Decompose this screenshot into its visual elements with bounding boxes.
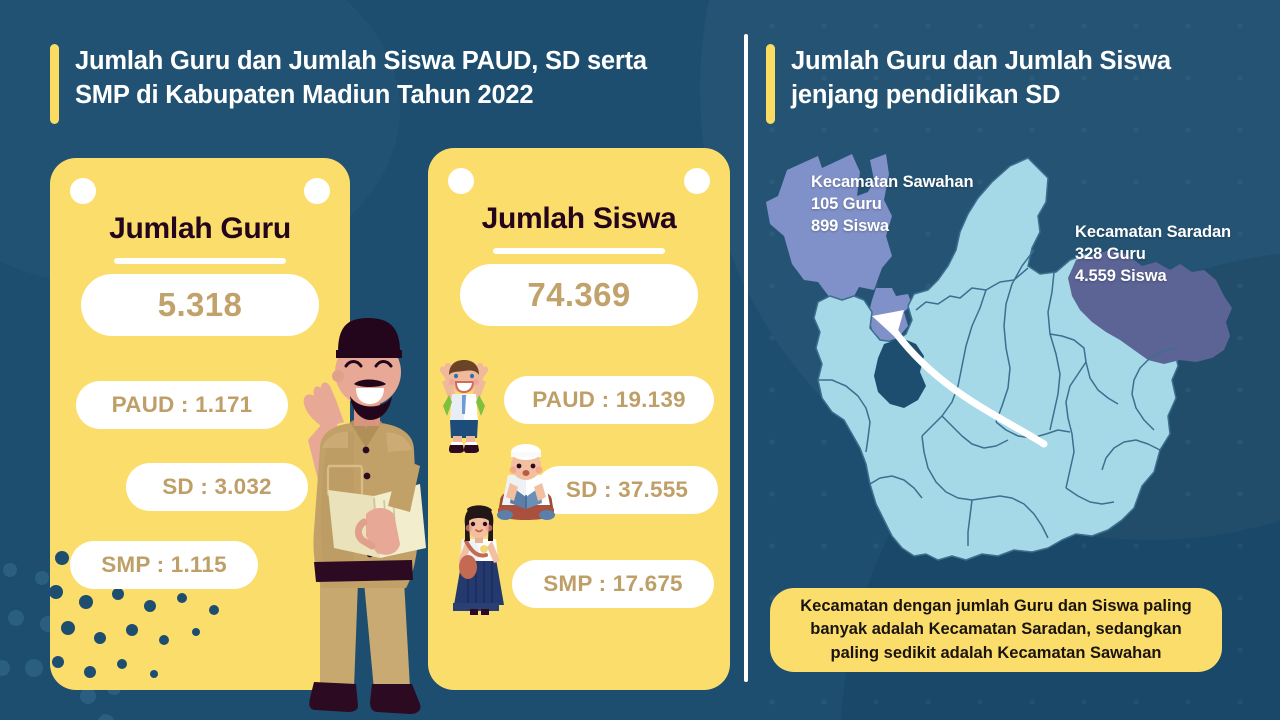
card-punch-hole-left (448, 168, 474, 194)
card-punch-hole-right (684, 168, 710, 194)
card-total-siswa: 74.369 (460, 264, 698, 326)
stat-pill-siswa-sd: SD : 37.555 (536, 466, 718, 514)
stat-card-guru: Jumlah Guru 5.318 PAUD : 1.171 SD : 3.03… (50, 158, 350, 690)
card-title-underline (114, 258, 286, 264)
right-panel-title: Jumlah Guru dan Jumlah Siswa jenjang pen… (766, 44, 1236, 124)
card-title-guru: Jumlah Guru (50, 212, 350, 246)
map-label-saradan: Kecamatan Saradan 328 Guru 4.559 Siswa (1075, 222, 1275, 288)
left-title-text: Jumlah Guru dan Jumlah Siswa PAUD, SD se… (75, 44, 647, 124)
card-title-siswa: Jumlah Siswa (428, 202, 730, 236)
stat-pill-guru-paud: PAUD : 1.171 (76, 381, 288, 429)
stat-pill-guru-sd: SD : 3.032 (126, 463, 308, 511)
infographic-canvas: Jumlah Guru dan Jumlah Siswa PAUD, SD se… (0, 0, 1280, 720)
map-caption-box: Kecamatan dengan jumlah Guru dan Siswa p… (770, 588, 1222, 672)
right-title-text: Jumlah Guru dan Jumlah Siswa jenjang pen… (791, 44, 1171, 124)
stat-pill-siswa-smp: SMP : 17.675 (512, 560, 714, 608)
stat-pill-guru-smp: SMP : 1.115 (70, 541, 258, 589)
title-accent-bar (50, 44, 59, 124)
card-total-guru: 5.318 (81, 274, 319, 336)
panel-divider (744, 34, 748, 682)
map-label-sawahan: Kecamatan Sawahan 105 Guru 899 Siswa (811, 172, 1031, 238)
card-punch-hole-right (304, 178, 330, 204)
left-panel-title: Jumlah Guru dan Jumlah Siswa PAUD, SD se… (50, 44, 710, 124)
card-punch-hole-left (70, 178, 96, 204)
card-title-underline (493, 248, 665, 254)
stat-card-siswa: Jumlah Siswa 74.369 PAUD : 19.139 SD : 3… (428, 148, 730, 690)
stat-pill-siswa-paud: PAUD : 19.139 (504, 376, 714, 424)
title-accent-bar (766, 44, 775, 124)
